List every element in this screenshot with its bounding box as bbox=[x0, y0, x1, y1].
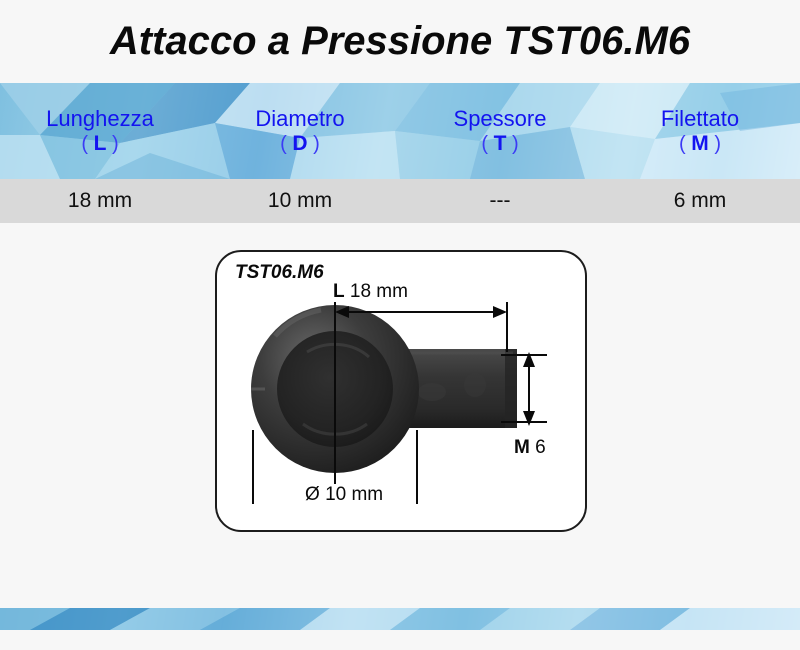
spec-header-diametro: Diametro ( D ) bbox=[200, 83, 400, 179]
spec-value-diametro: 10 mm bbox=[200, 179, 400, 223]
spec-header-name: Diametro bbox=[255, 107, 344, 130]
spec-table-header-band: Lunghezza ( L ) Diametro ( D ) Spessore … bbox=[0, 83, 800, 179]
spec-header-name: Filettato bbox=[661, 107, 739, 130]
spec-header-symbol: ( D ) bbox=[280, 133, 320, 155]
spec-header-name: Lunghezza bbox=[46, 107, 154, 130]
page-title-bar: Attacco a Pressione TST06.M6 bbox=[0, 0, 800, 83]
spec-header-symbol: ( M ) bbox=[679, 133, 721, 155]
product-diagram-box: TST06.M6 bbox=[215, 250, 587, 532]
spec-header-lunghezza: Lunghezza ( L ) bbox=[0, 83, 200, 179]
arrowhead-right-icon bbox=[493, 306, 507, 318]
spec-value-lunghezza: 18 mm bbox=[0, 179, 200, 223]
product-diagram-area: TST06.M6 bbox=[0, 223, 800, 563]
spec-table-values-row: 18 mm 10 mm --- 6 mm bbox=[0, 179, 800, 224]
spec-value-filettato: 6 mm bbox=[600, 179, 800, 223]
spec-header-name: Spessore bbox=[454, 107, 547, 130]
spec-header-symbol: ( L ) bbox=[81, 133, 118, 155]
dimension-label-thread: M 6 bbox=[514, 437, 546, 459]
spec-header-symbol: ( T ) bbox=[481, 133, 518, 155]
footer-polygon-pattern bbox=[0, 608, 800, 630]
footer-spacer bbox=[0, 630, 800, 650]
spec-header-filettato: Filettato ( M ) bbox=[600, 83, 800, 179]
spec-value-spessore: --- bbox=[400, 179, 600, 223]
dimension-label-diameter: Ø 10 mm bbox=[305, 484, 383, 506]
page-title: Attacco a Pressione TST06.M6 bbox=[110, 19, 690, 64]
spec-header-spessore: Spessore ( T ) bbox=[400, 83, 600, 179]
footer-accent-band bbox=[0, 608, 800, 630]
dimension-label-length: L 18 mm bbox=[333, 281, 408, 303]
spec-header-columns: Lunghezza ( L ) Diametro ( D ) Spessore … bbox=[0, 83, 800, 179]
arrowhead-down-icon bbox=[523, 411, 535, 426]
